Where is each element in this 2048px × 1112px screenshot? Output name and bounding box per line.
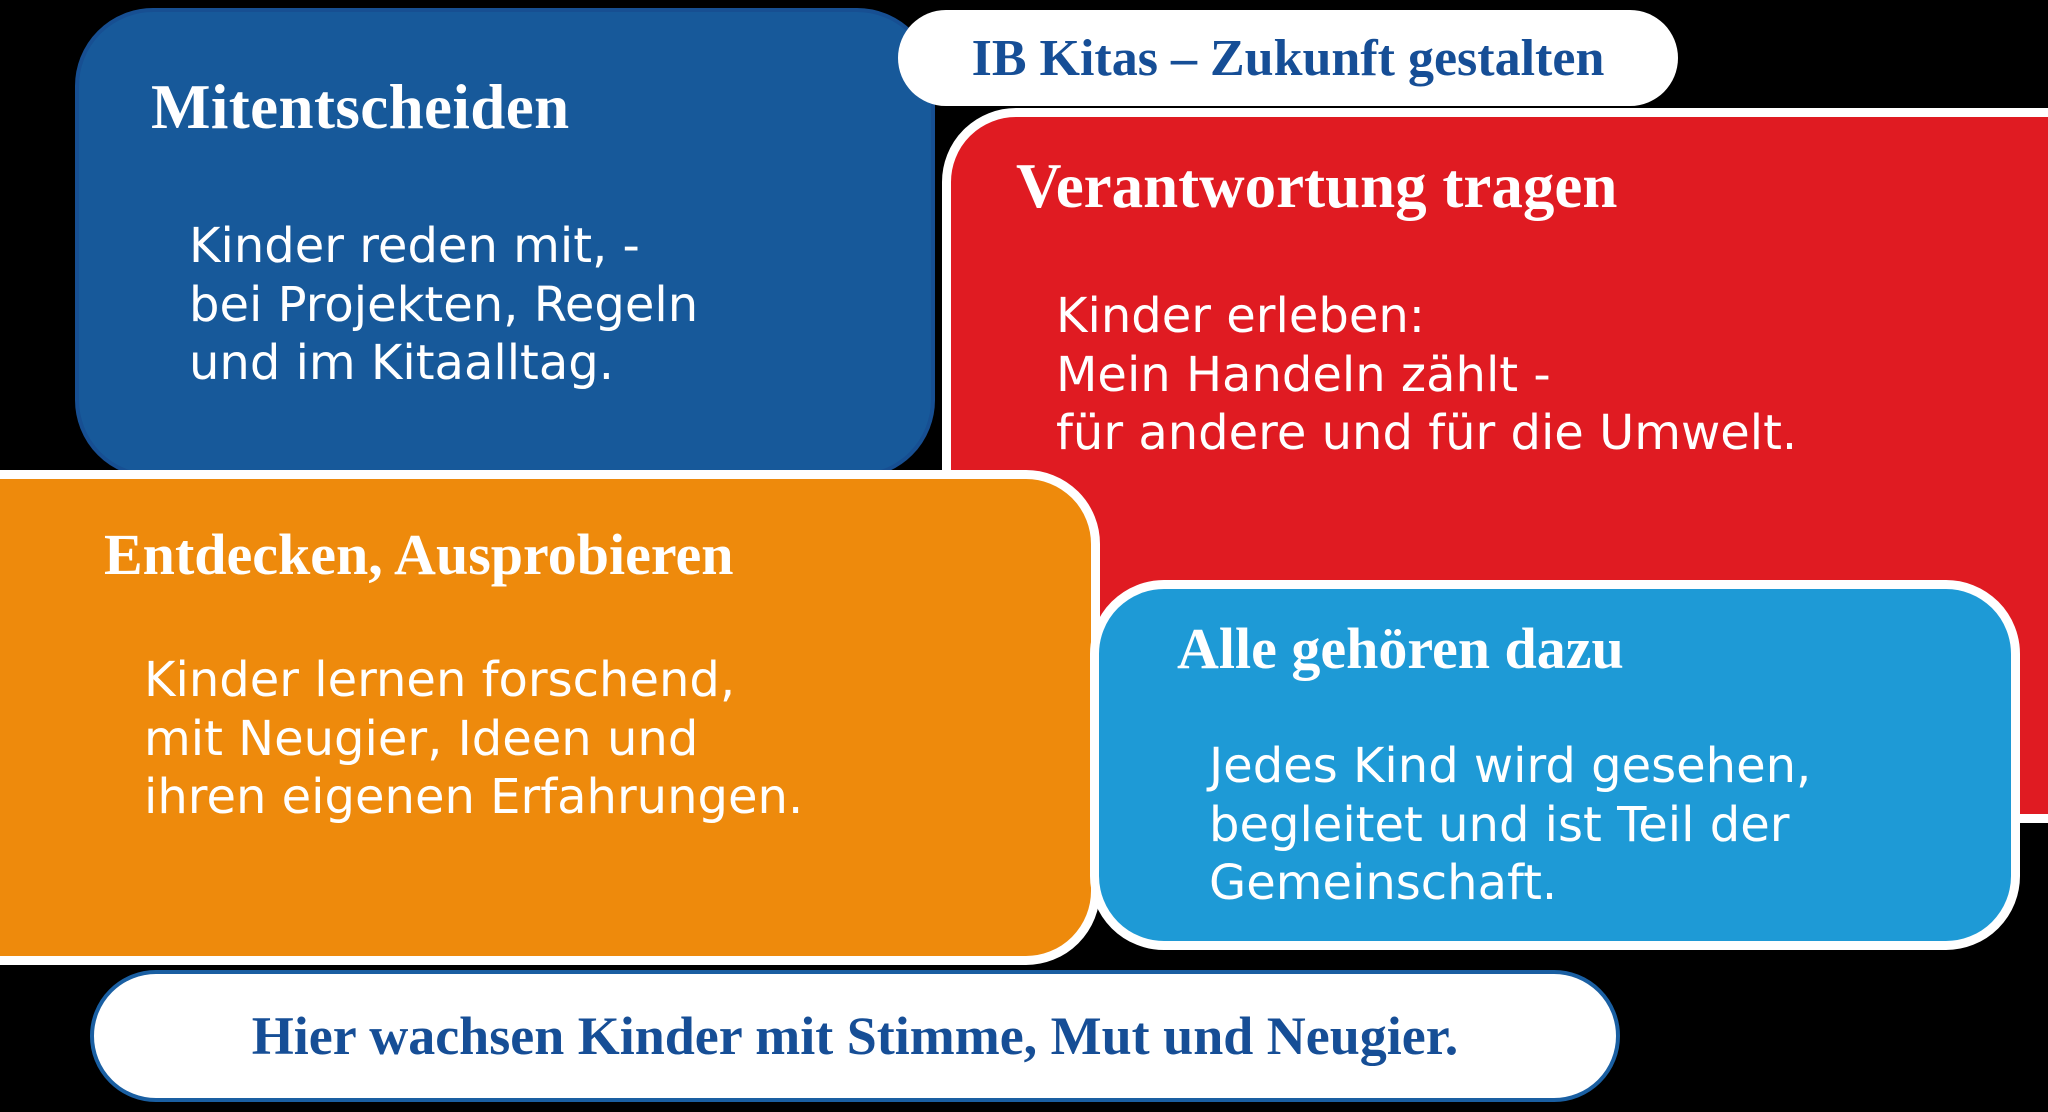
- card-alle-gehoeren-dazu[interactable]: Alle gehören dazu Jedes Kind wird gesehe…: [1090, 580, 2020, 950]
- card-title: Mitentscheiden: [151, 74, 570, 140]
- card-body: Kinder lernen forschend, mit Neugier, Id…: [144, 651, 803, 827]
- footer-banner: Hier wachsen Kinder mit Stimme, Mut und …: [90, 970, 1620, 1102]
- card-entdecken-ausprobieren[interactable]: Entdecken, Ausprobieren Kinder lernen fo…: [0, 470, 1100, 965]
- header-title: IB Kitas – Zukunft gestalten: [972, 29, 1605, 88]
- card-title: Verantwortung tragen: [1016, 153, 1617, 219]
- card-body: Kinder reden mit, - bei Projekten, Regel…: [189, 217, 698, 393]
- infographic-canvas: Mitentscheiden Kinder reden mit, - bei P…: [0, 0, 2048, 1112]
- card-body: Kinder erleben: Mein Handeln zählt - für…: [1056, 287, 1797, 463]
- card-body: Jedes Kind wird gesehen, begleitet und i…: [1209, 737, 1811, 913]
- card-title: Entdecken, Ausprobieren: [104, 525, 734, 586]
- card-mitentscheiden[interactable]: Mitentscheiden Kinder reden mit, - bei P…: [75, 8, 935, 478]
- header-banner: IB Kitas – Zukunft gestalten: [898, 10, 1678, 106]
- footer-tagline: Hier wachsen Kinder mit Stimme, Mut und …: [252, 1005, 1458, 1067]
- card-title: Alle gehören dazu: [1177, 619, 1624, 680]
